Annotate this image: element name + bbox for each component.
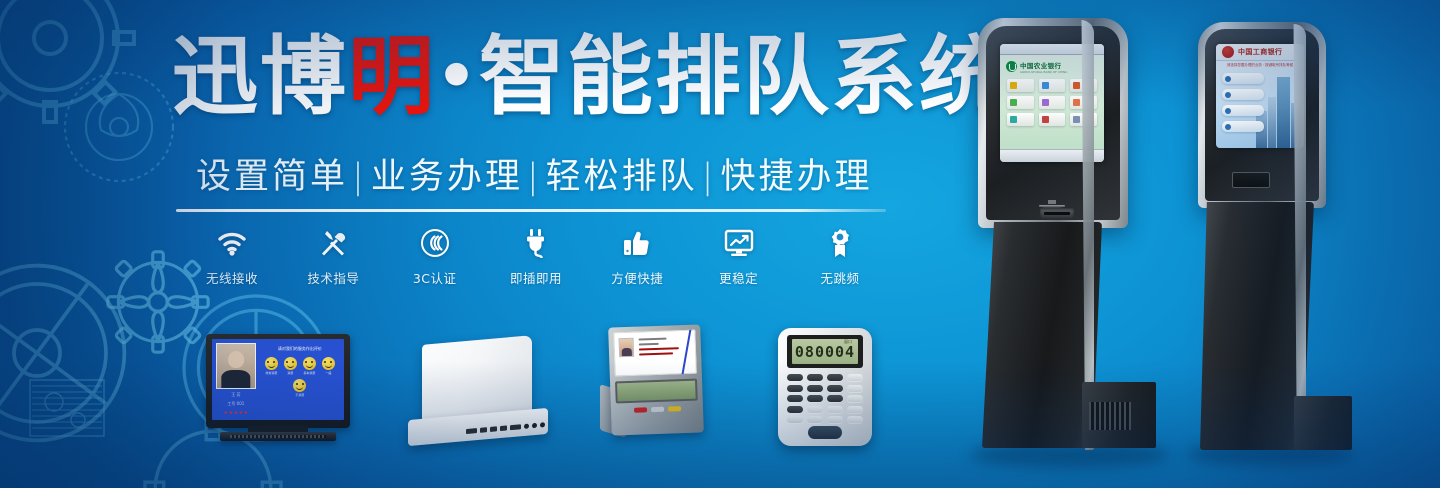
rating-label: 非常满意 [265,371,278,375]
menu-item[interactable] [1222,105,1264,116]
service-tile[interactable] [1039,96,1065,109]
keypad-key[interactable] [807,416,823,423]
rating-button[interactable]: 不满意 [293,379,306,397]
feature-item-technical-support: 技术指导 [287,226,379,287]
feature-item-no-frequency-hopping: 无跳频 [794,226,886,287]
subtitle-item-0: 设置简单 [196,157,348,197]
award-ribbon-icon [794,226,886,260]
feature-item-ccc-certified: 3C认证 [389,226,481,287]
desk-body [608,324,704,435]
desk-button-row [616,406,698,414]
product-host-box [408,340,548,448]
keypad-key[interactable] [787,385,803,392]
keypad-key[interactable] [847,416,863,423]
card-reader-icon[interactable] [1232,172,1270,188]
feature-item-plug-and-play: 即插即用 [490,226,582,287]
keypad-keys[interactable] [787,374,863,423]
service-tile[interactable] [1007,96,1033,109]
keypad-key[interactable] [827,416,843,423]
smiley-icon [265,357,278,370]
monitor-bezel: 王 芳 工号 001 请对我们的服务作出评价 非常满意 满意 基本满意 一般 不… [206,334,350,428]
service-menu[interactable] [1222,73,1264,132]
kiosk-screen-content: 中国工商银行 请选择您要办理的业务 · 按键取号排队等候 [1216,44,1304,148]
service-tile[interactable] [1039,113,1065,126]
section-divider [176,209,886,212]
power-plug-icon [490,226,582,260]
vent-grille [1089,402,1130,430]
subtitle-item-2: 轻松排队 [546,157,698,197]
staff-name: 王 芳 [216,391,256,398]
staff-panel: 王 芳 工号 001 [216,343,256,416]
port-icon [480,427,487,433]
service-tile[interactable] [1039,79,1065,92]
staff-photo [216,343,256,389]
keypad-key[interactable] [827,374,843,381]
title-pre: 迅博 [172,27,348,127]
thumbs-up-icon [591,226,683,260]
feature-label: 技术指导 [287,268,379,287]
rating-prompt: 请对我们的服务作出评价 [278,346,322,352]
rating-buttons: 非常满意 满意 基本满意 一般 不满意 [260,355,340,397]
wifi-icon [186,226,278,260]
port-icon [500,425,507,431]
keypad-key[interactable] [847,406,863,413]
rating-label: 不满意 [293,393,306,397]
rating-button-very-satisfied[interactable] [633,407,646,412]
bank-name: 中国工商银行 [1238,47,1282,57]
port-row [466,422,545,434]
subtitle-item-1: 业务办理 [371,157,523,197]
keypad-key[interactable] [847,395,863,402]
port-icon [466,428,477,434]
product-keypad-caller: 窗口 080004 [778,328,872,446]
keypad-key[interactable] [787,395,803,402]
desk-lcd-display [615,379,698,404]
port-icon [540,422,545,427]
staff-card [613,330,696,377]
lcd-label: 窗口 [844,339,852,345]
feature-label: 无线接收 [186,268,278,287]
product-desk-evaluator [600,326,716,446]
keypad-key[interactable] [787,374,803,381]
port-icon [510,424,521,430]
port-icon [490,426,497,432]
banner-subtitle: 设置简单|业务办理|轻松排队|快捷办理 [196,148,896,199]
keypad-key[interactable] [787,406,803,413]
product-kiosk-abc: 中国农业银行 AGRICULTURAL BANK OF CHINA [960,18,1180,478]
smiley-icon [284,357,297,370]
abc-bank-logo-icon [1006,61,1017,72]
title-dot: • [436,40,479,114]
rating-label: 基本满意 [303,371,316,375]
keypad-call-next-button[interactable] [808,426,842,439]
feature-label: 更稳定 [693,268,785,287]
kiosk-base-box [1082,382,1156,448]
rating-button-unsatisfied[interactable] [667,406,680,411]
rating-button-satisfied[interactable] [650,407,663,412]
kiosk-base-box [1294,396,1352,450]
lcd-value: 080004 [795,343,855,361]
keypad-key[interactable] [827,406,843,413]
subtitle-item-3: 快捷办理 [720,157,872,197]
keypad-key[interactable] [807,395,823,402]
menu-item[interactable] [1222,121,1264,132]
promo-banner: 迅博明•智能排队系统 设置简单|业务办理|轻松排队|快捷办理 无线接收 [0,0,1440,488]
ccc-certification-icon [389,226,481,260]
service-tile[interactable] [1007,113,1033,126]
keypad-key[interactable] [807,406,823,413]
keypad-key[interactable] [827,385,843,392]
subtitle-separator: | [523,157,546,197]
keypad-key[interactable] [847,374,863,381]
bank-subtitle: AGRICULTURAL BANK OF CHINA [1020,70,1067,74]
banner-title: 迅博明•智能排队系统 [172,34,912,120]
keypad-key[interactable] [827,395,843,402]
bank-tagline: 请选择您要办理的业务 · 按键取号排队等候 [1216,61,1304,68]
rating-button[interactable]: 基本满意 [303,357,316,375]
title-highlight: 明 [348,27,436,127]
staff-id: 工号 001 [216,400,256,407]
keypad-key[interactable] [847,385,863,392]
feature-item-more-stable: 更稳定 [693,226,785,287]
staff-card-text [639,337,686,359]
monitor-screen: 王 芳 工号 001 请对我们的服务作出评价 非常满意 满意 基本满意 一般 不… [212,339,344,420]
smiley-icon [293,379,306,392]
menu-item[interactable] [1222,89,1264,100]
rating-label: 满意 [284,371,297,375]
product-evaluator-monitor: 王 芳 工号 001 请对我们的服务作出评价 非常满意 满意 基本满意 一般 不… [206,334,350,444]
menu-item[interactable] [1222,73,1264,84]
rating-button[interactable]: 一般 [322,357,335,375]
port-icon [532,423,537,428]
keypad-lcd-bezel: 窗口 080004 [787,335,863,368]
tools-icon [287,226,379,260]
subtitle-separator: | [348,157,371,197]
feature-label: 方便快捷 [591,268,683,287]
product-kiosk-icbc: 中国工商银行 请选择您要办理的业务 · 按键取号排队等候 [1182,22,1362,474]
port-icon [524,424,529,429]
service-tile[interactable] [1007,79,1033,92]
staff-photo [619,338,635,358]
rating-label: 一般 [322,371,335,375]
keypad-key[interactable] [787,416,803,423]
icbc-bank-logo-icon [1222,46,1234,58]
feature-list: 无线接收 技术指导 [186,226,886,288]
feature-item-wireless: 无线接收 [186,226,278,287]
rating-panel: 请对我们的服务作出评价 非常满意 满意 基本满意 一般 不满意 [260,343,340,416]
star-rating [216,409,256,416]
keypad-lcd: 窗口 080004 [792,339,858,364]
feature-item-convenient: 方便快捷 [591,226,683,287]
rating-button[interactable]: 满意 [284,357,297,375]
ticket-printer-slot[interactable] [1040,208,1074,219]
subtitle-separator: | [698,157,721,197]
bank-header: 中国工商银行 [1216,44,1304,61]
feature-label: 即插即用 [490,268,582,287]
keypad-key[interactable] [807,385,823,392]
product-showcase: 王 芳 工号 001 请对我们的服务作出评价 非常满意 满意 基本满意 一般 不… [0,318,900,458]
bank-name: 中国农业银行 [1020,60,1067,70]
monitor-chart-icon [693,226,785,260]
title-post: 智能排队系统 [479,27,1007,127]
monitor-base [220,432,336,441]
rating-button[interactable]: 非常满意 [265,357,278,375]
keypad-key[interactable] [807,374,823,381]
feature-label: 3C认证 [389,268,481,287]
keypad-body: 窗口 080004 [778,328,872,446]
smiley-icon [303,357,316,370]
smiley-icon [322,357,335,370]
kiosk-screen: 中国工商银行 请选择您要办理的业务 · 按键取号排队等候 [1216,44,1304,148]
feature-label: 无跳频 [794,268,886,287]
